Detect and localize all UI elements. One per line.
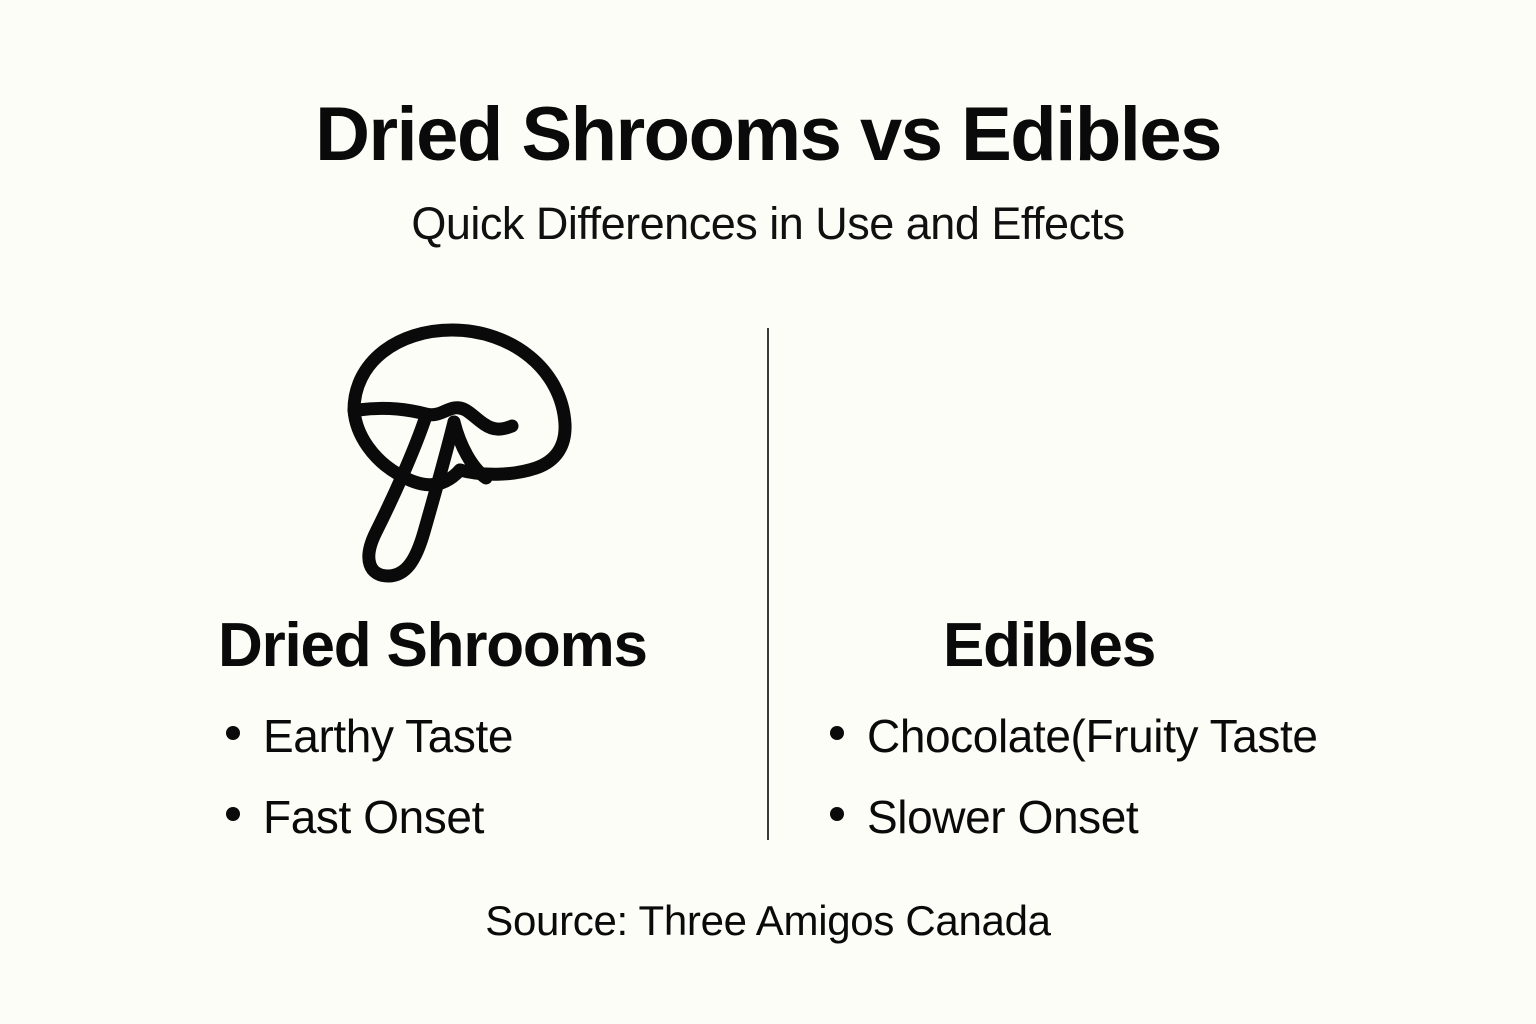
list-item-label: Chocolate(Fruity Taste (867, 713, 1318, 759)
list-item-label: Slower Onset (867, 794, 1138, 840)
column-heading-edibles: Edibles (943, 615, 1155, 677)
bullet-list-edibles: Chocolate(Fruity Taste Slower Onset (830, 713, 1318, 840)
list-item: Earthy Taste (226, 713, 513, 759)
page-subtitle: Quick Differences in Use and Effects (0, 200, 1536, 247)
list-item-label: Earthy Taste (263, 713, 513, 759)
page-title: Dried Shrooms vs Edibles (0, 96, 1536, 174)
source-attribution: Source: Three Amigos Canada (0, 897, 1536, 945)
icon-container-right (768, 310, 1536, 595)
column-heading-dried-shrooms: Dried Shrooms (218, 615, 647, 677)
list-item: Fast Onset (226, 794, 513, 840)
list-item-label: Fast Onset (263, 794, 484, 840)
infographic-root: Dried Shrooms vs Edibles Quick Differenc… (0, 0, 1536, 1024)
mushroom-icon (340, 318, 580, 588)
column-dried-shrooms: Dried Shrooms Earthy Taste Fast Onset (0, 310, 768, 870)
bullet-list-dried-shrooms: Earthy Taste Fast Onset (226, 713, 513, 840)
bullet-dot-icon (830, 807, 844, 821)
icon-container-left (0, 310, 768, 595)
list-item: Slower Onset (830, 794, 1318, 840)
list-item: Chocolate(Fruity Taste (830, 713, 1318, 759)
bullet-dot-icon (226, 726, 240, 740)
header: Dried Shrooms vs Edibles Quick Differenc… (0, 96, 1536, 247)
bullet-dot-icon (830, 726, 844, 740)
column-edibles: Edibles Chocolate(Fruity Taste Slower On… (768, 310, 1536, 870)
bullet-dot-icon (226, 807, 240, 821)
comparison-columns: Dried Shrooms Earthy Taste Fast Onset (0, 310, 1536, 870)
